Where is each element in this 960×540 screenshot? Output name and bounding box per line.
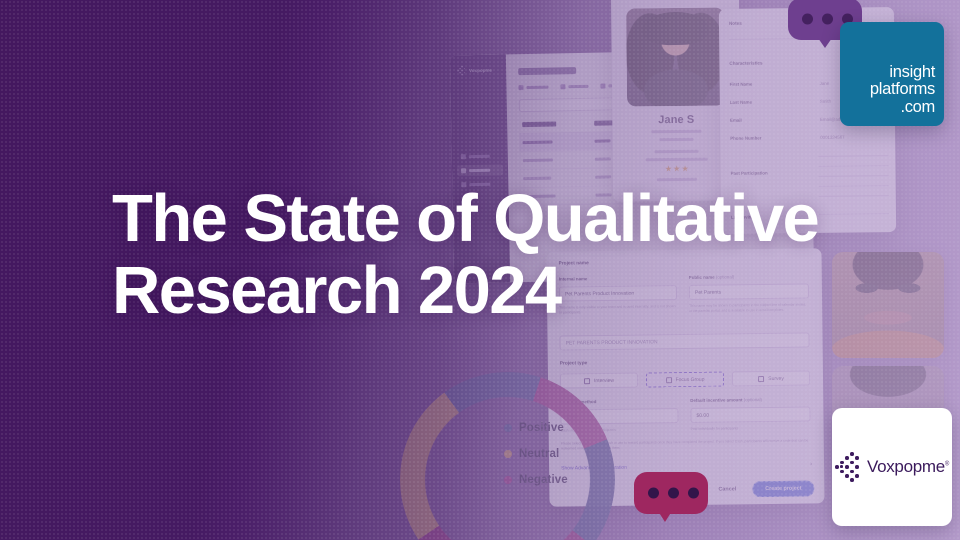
- headline-line-2: Research 2024: [112, 258, 942, 324]
- speech-bubble-tail: [818, 38, 832, 48]
- headline-line-1: The State of Qualitative: [112, 181, 818, 256]
- voxpopme-arrow-icon: [835, 452, 861, 482]
- speech-bubble-bottom: [634, 472, 708, 514]
- speech-bubble-dots: [648, 488, 699, 499]
- voxpopme-logo[interactable]: Voxpopme®: [832, 408, 952, 526]
- insight-platforms-logo[interactable]: insight platforms .com: [840, 22, 944, 126]
- voxpopme-logo-text: Voxpopme®: [867, 457, 949, 477]
- insight-platforms-logo-text: insight platforms .com: [870, 64, 935, 117]
- speech-bubble-tail: [658, 511, 672, 522]
- banner-stage: Voxpopme: [0, 0, 960, 540]
- page-title: The State of Qualitative Research 2024: [112, 186, 942, 325]
